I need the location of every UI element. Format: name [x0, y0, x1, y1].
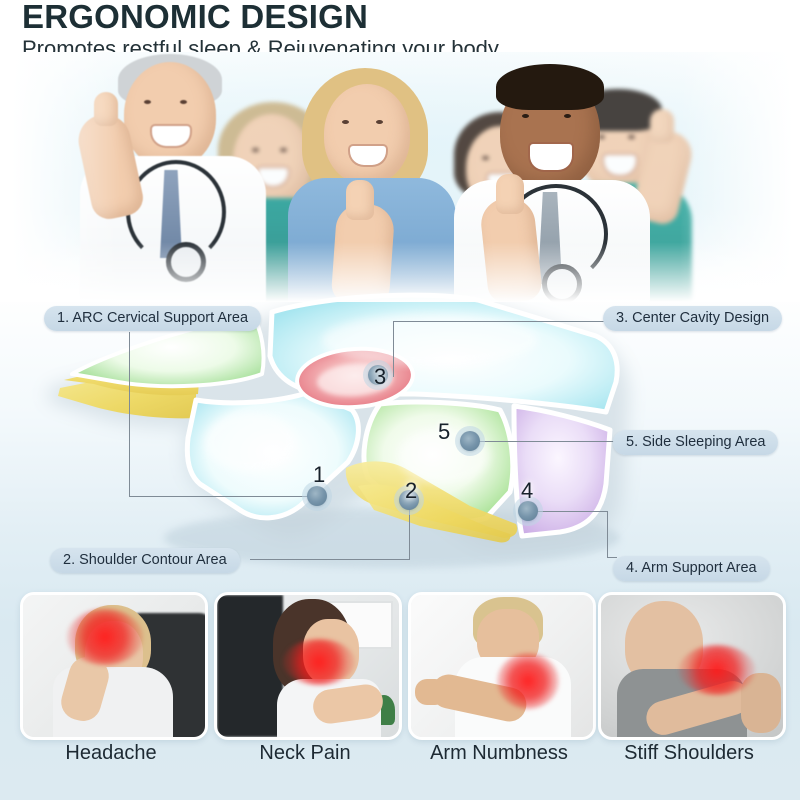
pillow-marker-1-number: 1 — [313, 462, 325, 488]
leader-line-5-horizontal — [470, 441, 615, 442]
leader-line-1-horizontal — [129, 496, 317, 497]
callout-label-2[interactable]: 2. Shoulder Contour Area — [50, 548, 240, 573]
pillow-marker-5[interactable] — [460, 431, 480, 451]
symptom-card-arm-numbness[interactable] — [408, 592, 596, 740]
symptom-caption-neck-pain: Neck Pain — [214, 742, 396, 765]
symptom-photo-stiff-shoulders — [601, 595, 783, 737]
leader-line-4-vertical — [607, 511, 608, 558]
callout-label-4[interactable]: 4. Arm Support Area — [613, 556, 770, 581]
pain-glow-arm — [497, 653, 559, 709]
leader-line-1-vertical — [129, 332, 130, 497]
pain-glow-neck — [283, 639, 355, 685]
pillow-marker-1[interactable] — [307, 486, 327, 506]
leader-line-3-horizontal — [393, 321, 605, 322]
pillow-marker-3-number: 3 — [374, 364, 386, 390]
pillow-marker-4-number: 4 — [521, 478, 533, 504]
pillow-marker-5-number: 5 — [438, 419, 450, 445]
leader-line-2-horizontal — [250, 559, 410, 560]
symptom-caption-stiff-shoulders: Stiff Shoulders — [598, 742, 780, 765]
symptom-photo-arm-numbness — [411, 595, 593, 737]
symptom-cards-row: Headache Neck Pain — [0, 592, 800, 800]
symptom-caption-arm-numbness: Arm Numbness — [408, 742, 590, 765]
infographic-page: ERGONOMIC DESIGN Promotes restful sleep … — [0, 0, 800, 800]
hero-photo-medical-team — [0, 52, 800, 302]
pain-glow-head — [67, 609, 143, 665]
pillow-gloss-left — [204, 412, 296, 472]
page-title: ERGONOMIC DESIGN — [22, 0, 368, 36]
pillow-marker-4[interactable] — [518, 501, 538, 521]
pillow-marker-2-number: 2 — [405, 478, 417, 504]
symptom-caption-headache: Headache — [20, 742, 202, 765]
leader-line-4-horizontal — [528, 511, 608, 512]
symptom-photo-headache — [23, 595, 205, 737]
symptom-card-headache[interactable] — [20, 592, 208, 740]
symptom-card-neck-pain[interactable] — [214, 592, 402, 740]
leader-line-4-horizontal-2 — [607, 557, 617, 558]
leader-line-3-vertical — [393, 322, 394, 377]
callout-label-1[interactable]: 1. ARC Cervical Support Area — [44, 306, 261, 331]
photo-fade-bottom — [0, 242, 800, 302]
symptom-photo-neck-pain — [217, 595, 399, 737]
pain-glow-shoulder — [679, 645, 755, 695]
callout-label-5[interactable]: 5. Side Sleeping Area — [613, 430, 778, 455]
symptom-card-stiff-shoulders[interactable] — [598, 592, 786, 740]
callout-label-3[interactable]: 3. Center Cavity Design — [603, 306, 782, 331]
